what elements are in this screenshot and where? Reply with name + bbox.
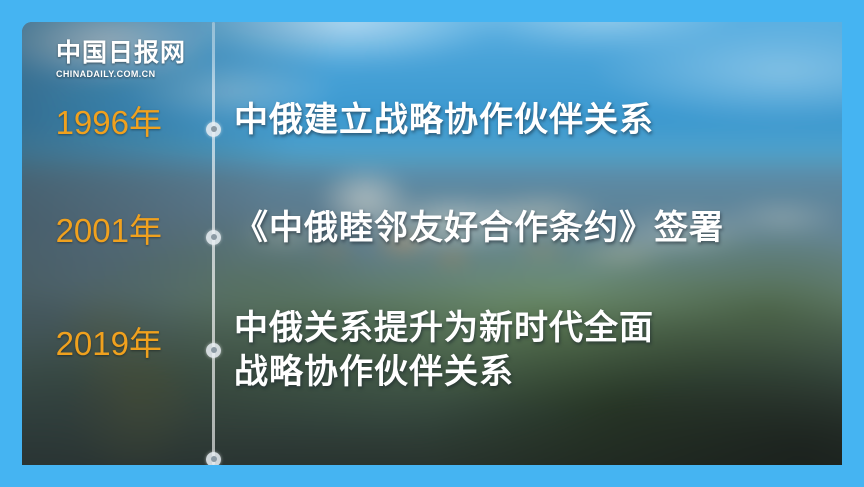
timeline-node-end [206,452,221,466]
year-label-2001: 2001年 [22,214,197,247]
timeline-node-1996 [206,122,221,137]
event-text-2019: 中俄关系提升为新时代全面 战略协作伙伴关系 [234,307,654,394]
timeline-node-2019 [206,343,221,358]
photo-stage: 中国日报网 CHINADAILY.COM.CN 1996年 中俄建立战略协作伙伴… [22,22,842,465]
logo-chinese-text: 中国日报网 [56,40,186,66]
year-label-1996: 1996年 [22,106,197,139]
event-text-1996: 中俄建立战略协作伙伴关系 [234,99,654,143]
publisher-logo: 中国日报网 CHINADAILY.COM.CN [56,40,186,79]
logo-english-text: CHINADAILY.COM.CN [56,69,186,79]
infographic-card: 中国日报网 CHINADAILY.COM.CN 1996年 中俄建立战略协作伙伴… [0,0,864,487]
event-text-2001: 《中俄睦邻友好合作条约》签署 [234,207,724,251]
year-label-2019: 2019年 [22,327,197,360]
timeline-node-2001 [206,230,221,245]
